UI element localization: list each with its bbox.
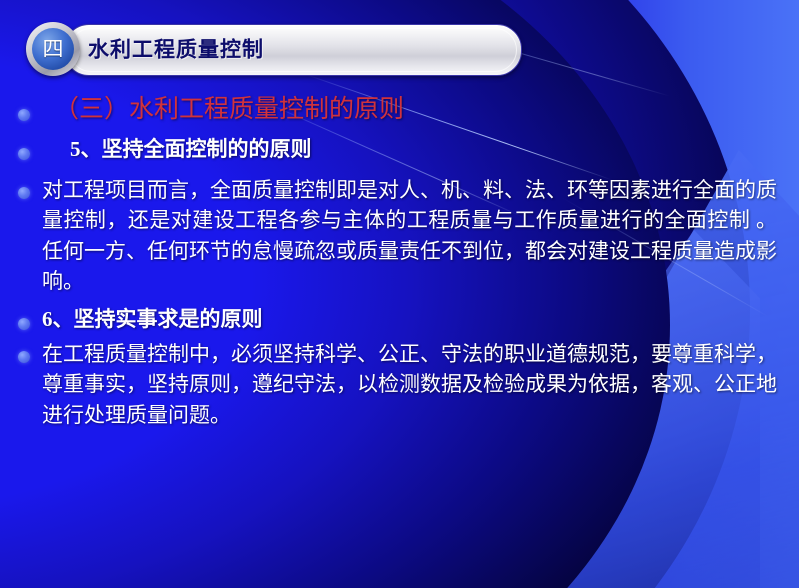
bullet-text-principle-5-title: 5、坚持全面控制的的原则 xyxy=(30,137,799,161)
bullet-dot-icon xyxy=(18,148,30,160)
slide-body: （三）水利工程质量控制的原则 5、坚持全面控制的的原则 对工程项目而言，全面质量… xyxy=(0,96,799,430)
spacer xyxy=(0,297,799,307)
bullet-row-principle-5: 5、坚持全面控制的的原则 xyxy=(0,137,799,161)
bullet-text-principle-5-body: 对工程项目而言，全面质量控制即是对人、机、料、法、环等因素进行全面的质量控制，还… xyxy=(30,175,799,297)
bullet-row-principle-6-body: 在工程质量控制中，必须坚持科学、公正、守法的职业道德规范，要尊重科学，尊重事实，… xyxy=(0,339,799,430)
bullet-text-principle-6-body: 在工程质量控制中，必须坚持科学、公正、守法的职业道德规范，要尊重科学，尊重事实，… xyxy=(30,339,799,430)
slide-header-banner: 水利工程质量控制 四 xyxy=(26,22,522,76)
spacer xyxy=(0,331,799,339)
bullet-text-section-heading: （三）水利工程质量控制的原则 xyxy=(30,96,799,125)
section-number-label: 四 xyxy=(32,28,74,70)
page-title: 水利工程质量控制 xyxy=(88,33,264,63)
section-number-badge: 四 xyxy=(26,22,80,76)
bullet-dot-icon xyxy=(18,109,30,121)
bullet-dot-icon xyxy=(18,187,30,199)
bullet-text-principle-6-title: 6、坚持实事求是的原则 xyxy=(30,307,799,331)
bullet-dot-icon xyxy=(18,318,30,330)
bullet-row-principle-6: 6、坚持实事求是的原则 xyxy=(0,307,799,331)
spacer xyxy=(0,161,799,175)
spacer xyxy=(0,125,799,137)
bullet-row-heading: （三）水利工程质量控制的原则 xyxy=(0,96,799,125)
bullet-dot-icon xyxy=(18,351,30,363)
presentation-slide: 水利工程质量控制 四 （三）水利工程质量控制的原则 5、坚持全面控制的的原则 对… xyxy=(0,0,799,588)
bullet-row-principle-5-body: 对工程项目而言，全面质量控制即是对人、机、料、法、环等因素进行全面的质量控制，还… xyxy=(0,175,799,297)
